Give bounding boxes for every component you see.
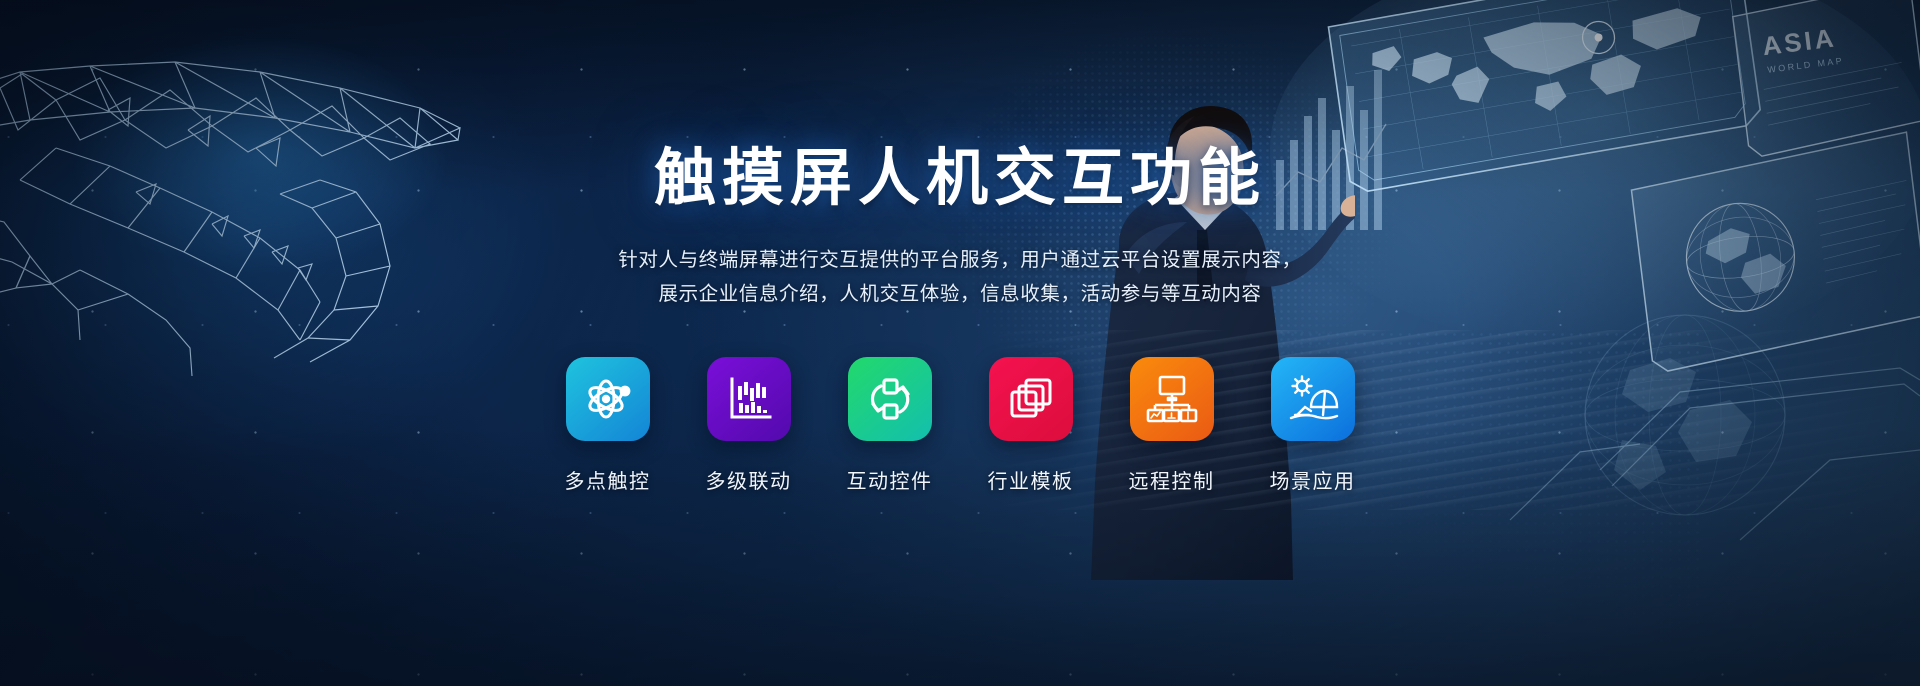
- subtitle-line-1: 针对人与终端屏幕进行交互提供的平台服务，用户通过云平台设置展示内容，: [618, 244, 1301, 278]
- feature-label-scenario-application: 场景应用: [1270, 465, 1356, 494]
- feature-tile-multitouch[interactable]: [566, 357, 650, 441]
- feature-item-scenario-application[interactable]: 场景应用: [1270, 357, 1355, 494]
- atom-icon: [582, 373, 634, 425]
- page-title: 触摸屏人机交互功能: [654, 148, 1266, 210]
- feature-label-multitouch: 多点触控: [565, 465, 651, 494]
- feature-item-remote-control[interactable]: 远程控制: [1129, 357, 1214, 494]
- feature-list: 多点触控: [565, 357, 1355, 494]
- bar-chart-icon: [724, 374, 774, 424]
- hero-banner: ASIA WORLD MAP: [0, 0, 1920, 686]
- beach-scene-icon: [1287, 374, 1339, 424]
- feature-label-interactive-widgets: 互动控件: [847, 465, 933, 494]
- feature-tile-interactive-widgets[interactable]: [848, 357, 932, 441]
- feature-tile-remote-control[interactable]: [1130, 357, 1214, 441]
- feature-tile-industry-templates[interactable]: [989, 357, 1073, 441]
- feature-item-interactive-widgets[interactable]: 互动控件: [847, 357, 932, 494]
- remote-monitor-icon: [1146, 374, 1198, 424]
- layers-icon: [1007, 375, 1055, 423]
- feature-tile-multilevel-linkage[interactable]: [707, 357, 791, 441]
- feature-item-multitouch[interactable]: 多点触控: [565, 357, 650, 494]
- banner-content: 触摸屏人机交互功能 针对人与终端屏幕进行交互提供的平台服务，用户通过云平台设置展…: [0, 0, 1920, 686]
- feature-tile-scenario-application[interactable]: [1271, 357, 1355, 441]
- feature-label-remote-control: 远程控制: [1129, 465, 1215, 494]
- feature-label-multilevel-linkage: 多级联动: [706, 465, 792, 494]
- banner-subtitle: 针对人与终端屏幕进行交互提供的平台服务，用户通过云平台设置展示内容， 展示企业信…: [618, 244, 1301, 311]
- feature-item-multilevel-linkage[interactable]: 多级联动: [706, 357, 791, 494]
- sync-squares-icon: [865, 374, 915, 424]
- feature-label-industry-templates: 行业模板: [988, 465, 1074, 494]
- feature-item-industry-templates[interactable]: 行业模板: [988, 357, 1073, 494]
- subtitle-line-2: 展示企业信息介绍，人机交互体验，信息收集，活动参与等互动内容: [618, 278, 1301, 312]
